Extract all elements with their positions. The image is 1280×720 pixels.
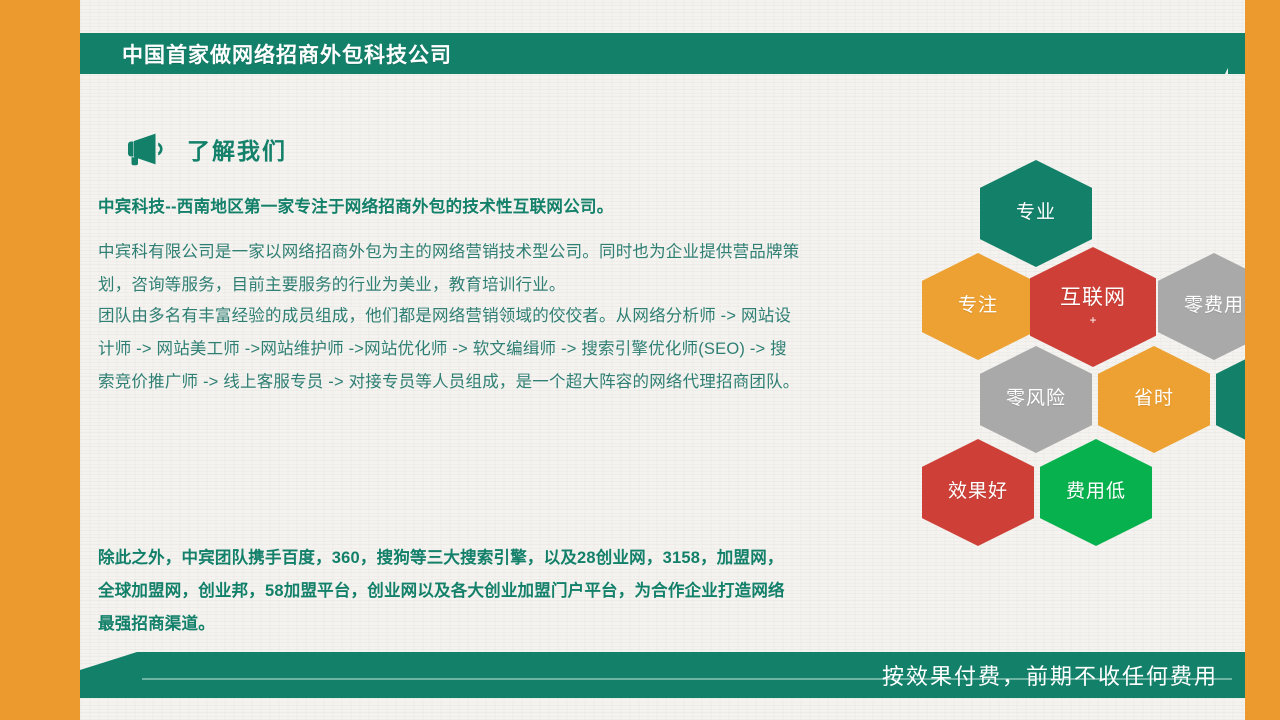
hexagon-2[interactable]: 专注 (922, 253, 1034, 360)
hexagon-label: 效果好 (948, 482, 1008, 503)
slide-canvas: 中国首家做网络招商外包科技公司 了解我们 中宾科技--西南地区第一家专注于网络招… (80, 0, 1245, 720)
hexagon-6[interactable]: 省时 (1098, 346, 1210, 453)
hexagon-label: 零风险 (1006, 389, 1066, 410)
about-text-block: 中宾科技--西南地区第一家专注于网络招商外包的技术性互联网公司。 中宾科有限公司… (98, 192, 803, 399)
about-closing-paragraph: 除此之外，中宾团队携手百度，360，搜狗等三大搜索引擎，以及28创业网，3158… (98, 542, 798, 641)
hexagon-label: 专业 (1016, 203, 1056, 224)
about-paragraph-2: 团队由多名有丰富经验的成员组成，他们都是网络营销领域的佼佼者。从网络分析师 ->… (98, 300, 803, 399)
hexagon-label: 费用低 (1066, 482, 1126, 503)
about-lead-line: 中宾科技--西南地区第一家专注于网络招商外包的技术性互联网公司。 (98, 192, 803, 222)
about-closing-block: 除此之外，中宾团队携手百度，360，搜狗等三大搜索引擎，以及28创业网，3158… (98, 542, 798, 641)
hexagon-5[interactable]: 零风险 (980, 346, 1092, 453)
megaphone-icon (125, 132, 165, 166)
hexagon-9[interactable]: 费用低 (1040, 439, 1152, 546)
header-banner-tail (1228, 33, 1245, 74)
slide-root: 中国首家做网络招商外包科技公司 了解我们 中宾科技--西南地区第一家专注于网络招… (0, 0, 1280, 720)
page-title: 中国首家做网络招商外包科技公司 (122, 33, 452, 74)
hexagon-sublabel: + (1089, 314, 1096, 327)
hexagon-3[interactable]: 互联网+ (1030, 247, 1156, 367)
hexagon-7[interactable]: 省心 (1216, 346, 1245, 453)
section-heading: 了解我们 (125, 132, 287, 166)
hexagon-label: 专注 (958, 296, 998, 317)
hexagon-8[interactable]: 效果好 (922, 439, 1034, 546)
hexagon-cluster: 专业专注互联网+零费用零风险省时省心效果好费用低 (840, 160, 1220, 530)
hexagon-label: 互联网 (1060, 286, 1126, 309)
hexagon-label: 零费用 (1184, 296, 1244, 317)
footer-tagline: 按效果付费，前期不收任何费用 (882, 652, 1218, 698)
section-title: 了解我们 (187, 132, 287, 166)
hexagon-4[interactable]: 零费用 (1158, 253, 1245, 360)
about-paragraph-1: 中宾科有限公司是一家以网络招商外包为主的网络营销技术型公司。同时也为企业提供营品… (98, 236, 803, 302)
hexagon-1[interactable]: 专业 (980, 160, 1092, 267)
hexagon-label: 省时 (1134, 389, 1174, 410)
